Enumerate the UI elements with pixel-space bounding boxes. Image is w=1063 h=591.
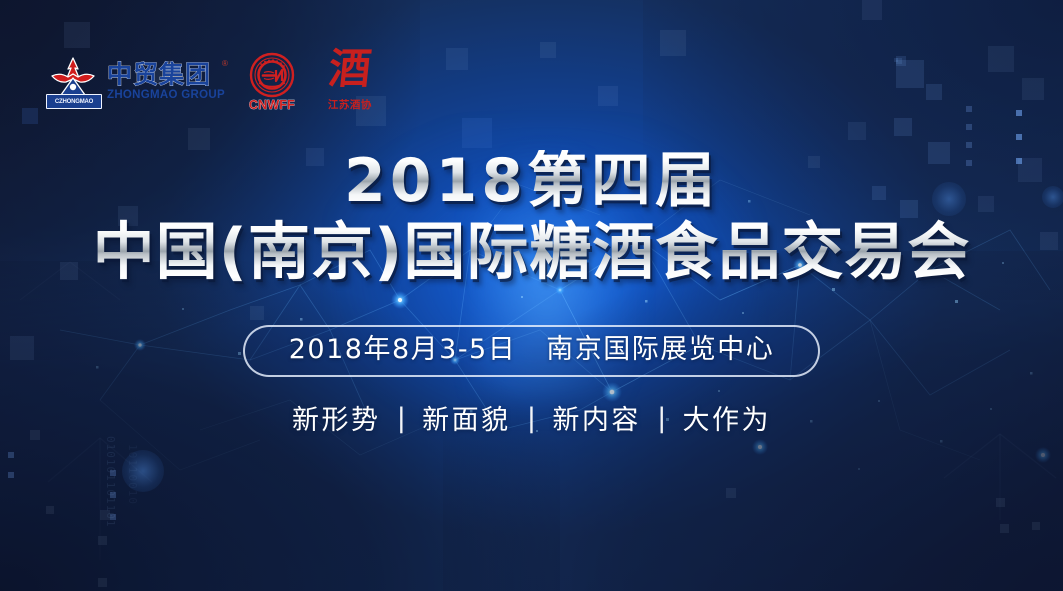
- slogan-separator-3: |: [658, 403, 666, 433]
- binary-texture-decor-2: 10110010: [126, 444, 139, 505]
- zhongmao-emblem-icon: CZHONGMAO: [44, 56, 102, 108]
- event-date: 2018年8月3-5日: [289, 334, 517, 366]
- zhongmao-plate-text: CZHONGMAO: [55, 99, 93, 105]
- logo-jiangsu-liquor-association: 酒 江苏酒协: [319, 52, 381, 112]
- zhongmao-name-cn: 中贸集团: [107, 60, 211, 89]
- slogan-separator-2: |: [528, 403, 536, 433]
- cnwff-seal-icon: [245, 52, 299, 100]
- event-poster: 010101101101 10110010 CZHONGMAO: [0, 0, 1063, 591]
- zhongmao-plate: CZHONGMAO: [46, 94, 102, 109]
- date-venue-pill-wrap: 2018年8月3-5日 南京国际展览中心: [0, 325, 1063, 377]
- binary-texture-decor: 010101101101: [104, 436, 117, 527]
- slogan-item-3: 新内容: [552, 398, 641, 437]
- slogan-separator-1: |: [397, 403, 405, 433]
- date-venue-pill: 2018年8月3-5日 南京国际展览中心: [243, 325, 821, 377]
- title-line-1: 2018第四届: [0, 150, 1063, 214]
- jiangsu-association-label: 江苏酒协: [319, 97, 381, 112]
- slogan-item-1: 新形势: [292, 398, 381, 437]
- registered-trademark-icon: ®: [222, 60, 228, 68]
- sponsor-logo-bar: CZHONGMAO 中贸集团 ® ZHONGMAO GROUP: [44, 52, 381, 112]
- zhongmao-name-en: ZHONGMAO GROUP: [107, 90, 225, 102]
- logo-zhongmao-group: CZHONGMAO 中贸集团 ® ZHONGMAO GROUP: [44, 56, 225, 108]
- event-venue: 南京国际展览中心: [546, 334, 774, 366]
- jiu-calligraphy-icon: 酒: [317, 48, 383, 90]
- poster-title-block: 2018第四届 中国(南京)国际糖酒食品交易会: [0, 150, 1063, 286]
- title-line-2: 中国(南京)国际糖酒食品交易会: [0, 218, 1063, 286]
- slogan-item-4: 大作为: [683, 398, 772, 437]
- cnwff-label: CNWFF: [245, 98, 299, 112]
- slogan-item-2: 新面貌: [422, 398, 511, 437]
- slogan-bar: 新形势 | 新面貌 | 新内容 | 大作为: [0, 398, 1063, 437]
- logo-cnwff: CNWFF: [245, 52, 299, 112]
